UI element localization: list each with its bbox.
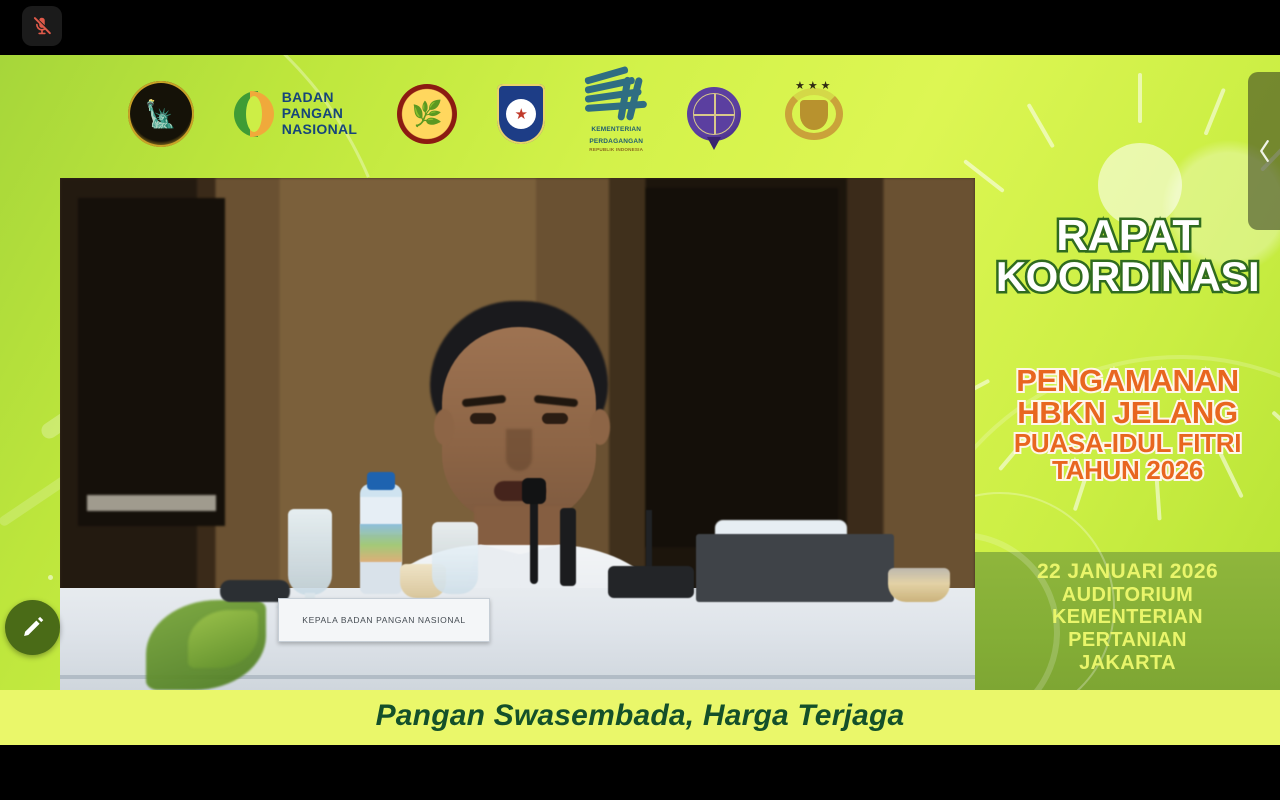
kemendag-label-2: PERDAGANGAN (589, 138, 643, 146)
water-glass-2 (432, 522, 478, 594)
kemendag-label-3: REPUBLIK INDONESIA (589, 147, 643, 152)
room-dark-panel-left (78, 198, 224, 526)
event-venue-line-3: PERTANIAN (975, 629, 1280, 652)
bpn-line-1: BADAN (282, 90, 358, 106)
speaker-nameplate: KEPALA BADAN PANGAN NASIONAL (278, 598, 490, 642)
wicker-basket (888, 568, 950, 602)
microphone-base (608, 566, 694, 598)
kementerian-pertanian-logo: 🌿 (397, 84, 457, 144)
screen-root: 🗽 BADAN PANGAN NASIONAL 🌿 ★ (0, 0, 1280, 800)
microphone (522, 478, 546, 504)
nameplate-text: KEPALA BADAN PANGAN NASIONAL (302, 615, 465, 625)
bpn-mark-icon (234, 91, 274, 137)
kemendagri-shield-icon: ★ (497, 84, 545, 144)
top-letterbox-bar (0, 0, 1280, 55)
video-feed[interactable]: KEPALA BADAN PANGAN NASIONAL (60, 178, 975, 690)
kementerian-dalam-negeri-logo: ★ (497, 84, 545, 144)
previous-slide-button[interactable] (1248, 72, 1280, 230)
broadcast-slide: 🗽 BADAN PANGAN NASIONAL 🌿 ★ (0, 55, 1280, 745)
event-venue-line-4: JAKARTA (975, 652, 1280, 675)
event-venue-line-2: KEMENTERIAN (975, 606, 1280, 629)
event-venue-line-1: AUDITORIUM (975, 584, 1280, 607)
badan-pangan-nasional-logo: BADAN PANGAN NASIONAL (234, 90, 358, 137)
edit-button[interactable] (5, 600, 60, 655)
polri-emblem-icon: ★★★ (781, 81, 847, 147)
chevron-left-icon (1257, 137, 1272, 165)
microphone-muted-indicator[interactable] (22, 6, 62, 46)
kementerian-perdagangan-logo: KEMENTERIAN PERDAGANGAN REPUBLIK INDONES… (585, 76, 647, 152)
garuda-pancasila-emblem: 🗽 (128, 81, 194, 147)
poster-subtitle: PENGAMANAN HBKN JELANG PUASA-IDUL FITRI … (975, 365, 1280, 483)
water-glass (288, 509, 332, 595)
poster-meta-panel: 22 JANUARI 2026 AUDITORIUM KEMENTERIAN P… (975, 552, 1280, 690)
bottom-letterbox-bar (0, 745, 1280, 800)
garuda-pancasila-icon: 🗽 (128, 81, 194, 147)
tagline-band: Pangan Swasembada, Harga Terjaga Stok Am… (0, 690, 1280, 745)
poster-subtitle-line-2: HBKN JELANG (975, 397, 1280, 429)
bpn-line-3: NASIONAL (282, 122, 358, 138)
tagline-line-1: Pangan Swasembada, Harga Terjaga (0, 699, 1280, 733)
event-date: 22 JANUARI 2026 (975, 560, 1280, 584)
poster-event-meta: 22 JANUARI 2026 AUDITORIUM KEMENTERIAN P… (975, 552, 1280, 674)
laptop-device (696, 534, 894, 602)
bulog-logo (687, 87, 741, 141)
kementan-icon: 🌿 (397, 84, 457, 144)
pencil-edit-icon (20, 615, 46, 641)
kemendag-mark-icon (585, 76, 647, 122)
poster-title: RAPAT KOORDINASI (975, 215, 1280, 298)
decorative-dot (48, 575, 53, 580)
microphone-2 (560, 508, 576, 586)
microphone-muted-icon (31, 15, 53, 37)
poster-subtitle-line-3: PUASA-IDUL FITRI (975, 430, 1280, 457)
poster-title-line-2: KOORDINASI (975, 257, 1280, 297)
poster-column: RAPAT KOORDINASI PENGAMANAN HBKN JELANG … (975, 55, 1280, 745)
poster-subtitle-line-4: TAHUN 2026 (975, 457, 1280, 484)
institution-logo-strip: 🗽 BADAN PANGAN NASIONAL 🌿 ★ (0, 55, 975, 173)
bpn-logo-text: BADAN PANGAN NASIONAL (282, 90, 358, 137)
kemendag-label-1: KEMENTERIAN (591, 126, 641, 134)
bulog-globe-icon (687, 87, 741, 141)
bpn-line-2: PANGAN (282, 106, 358, 122)
room-shelf (87, 495, 215, 510)
poster-subtitle-line-1: PENGAMANAN (975, 365, 1280, 397)
polri-logo: ★★★ (781, 81, 847, 147)
